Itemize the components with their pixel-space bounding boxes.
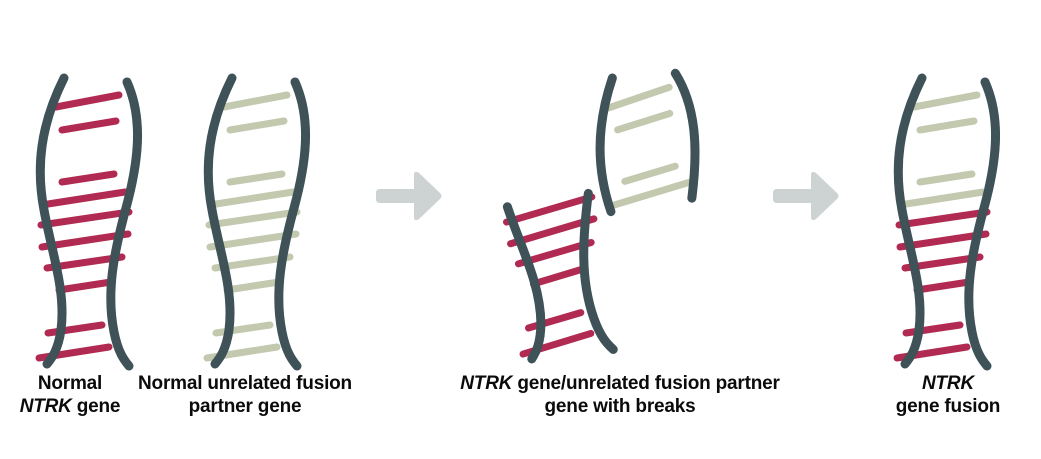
panel-with-breaks [484, 60, 694, 360]
panel-normal-ntrk [14, 68, 174, 358]
caption-line-1: Normal [0, 372, 140, 395]
caption-line-2-rest: gene [72, 396, 121, 417]
caption-normal-ntrk: Normal NTRK gene [0, 372, 140, 418]
gene-name-italic: NTRK [20, 396, 72, 417]
caption-line-2: gene fusion [855, 395, 1041, 418]
caption-line-1-rest: gene/unrelated fusion partner [512, 373, 779, 394]
caption-line-2: partner gene [127, 395, 363, 418]
rungs-fusion-partner-part [906, 95, 983, 204]
caption-line-1: NTRK gene/unrelated fusion partner [425, 372, 815, 395]
caption-line-2: NTRK gene [0, 395, 140, 418]
gene-name-italic: NTRK [855, 372, 1041, 395]
arrow-right-icon [773, 168, 841, 224]
arrow-right-icon [376, 168, 444, 224]
helix-partner-gene [182, 68, 342, 358]
panel-gene-fusion [872, 68, 1032, 358]
panel-partner-gene [182, 68, 342, 358]
partner-top-fragment [589, 68, 704, 212]
helix-normal-ntrk [14, 68, 174, 358]
gene-name-italic: NTRK [460, 373, 512, 394]
caption-gene-fusion: NTRK gene fusion [855, 372, 1041, 418]
caption-with-breaks: NTRK gene/unrelated fusion partner gene … [425, 372, 815, 418]
caption-line-2: gene with breaks [425, 395, 815, 418]
ntrk-fusion-diagram: Normal NTRK gene [0, 0, 1041, 459]
backbone-partner-fragment [589, 68, 704, 212]
ntrk-bottom-fragment [502, 193, 613, 362]
helix-gene-fusion [872, 68, 1032, 358]
rungs-partner-fragment [599, 86, 690, 205]
broken-helix-group [484, 60, 694, 360]
caption-partner-gene: Normal unrelated fusion partner gene [127, 372, 363, 418]
process-arrow-2 [773, 168, 841, 224]
process-arrow-1 [376, 168, 444, 224]
caption-line-1: Normal unrelated fusion [127, 372, 363, 395]
